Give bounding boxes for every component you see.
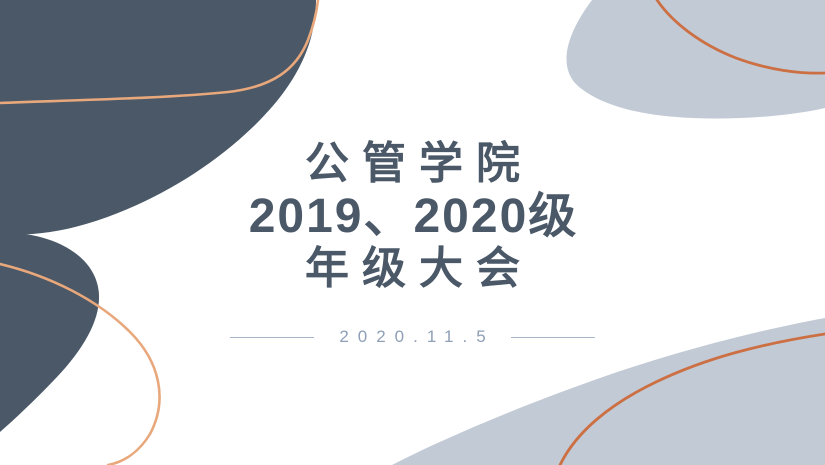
divider-left	[230, 337, 314, 338]
page-title: 公管学院 2019、2020级 年级大会	[0, 142, 825, 291]
slide-content: 公管学院 2019、2020级 年级大会 2020.11.5	[0, 0, 825, 465]
title-line-3: 年级大会	[0, 247, 825, 291]
date-text: 2020.11.5	[314, 327, 510, 347]
title-line-2: 2019、2020级	[0, 193, 825, 241]
title-line-1: 公管学院	[0, 142, 825, 186]
date-row: 2020.11.5	[0, 327, 825, 347]
divider-right	[511, 337, 595, 338]
presentation-slide: 公管学院 2019、2020级 年级大会 2020.11.5	[0, 0, 825, 465]
